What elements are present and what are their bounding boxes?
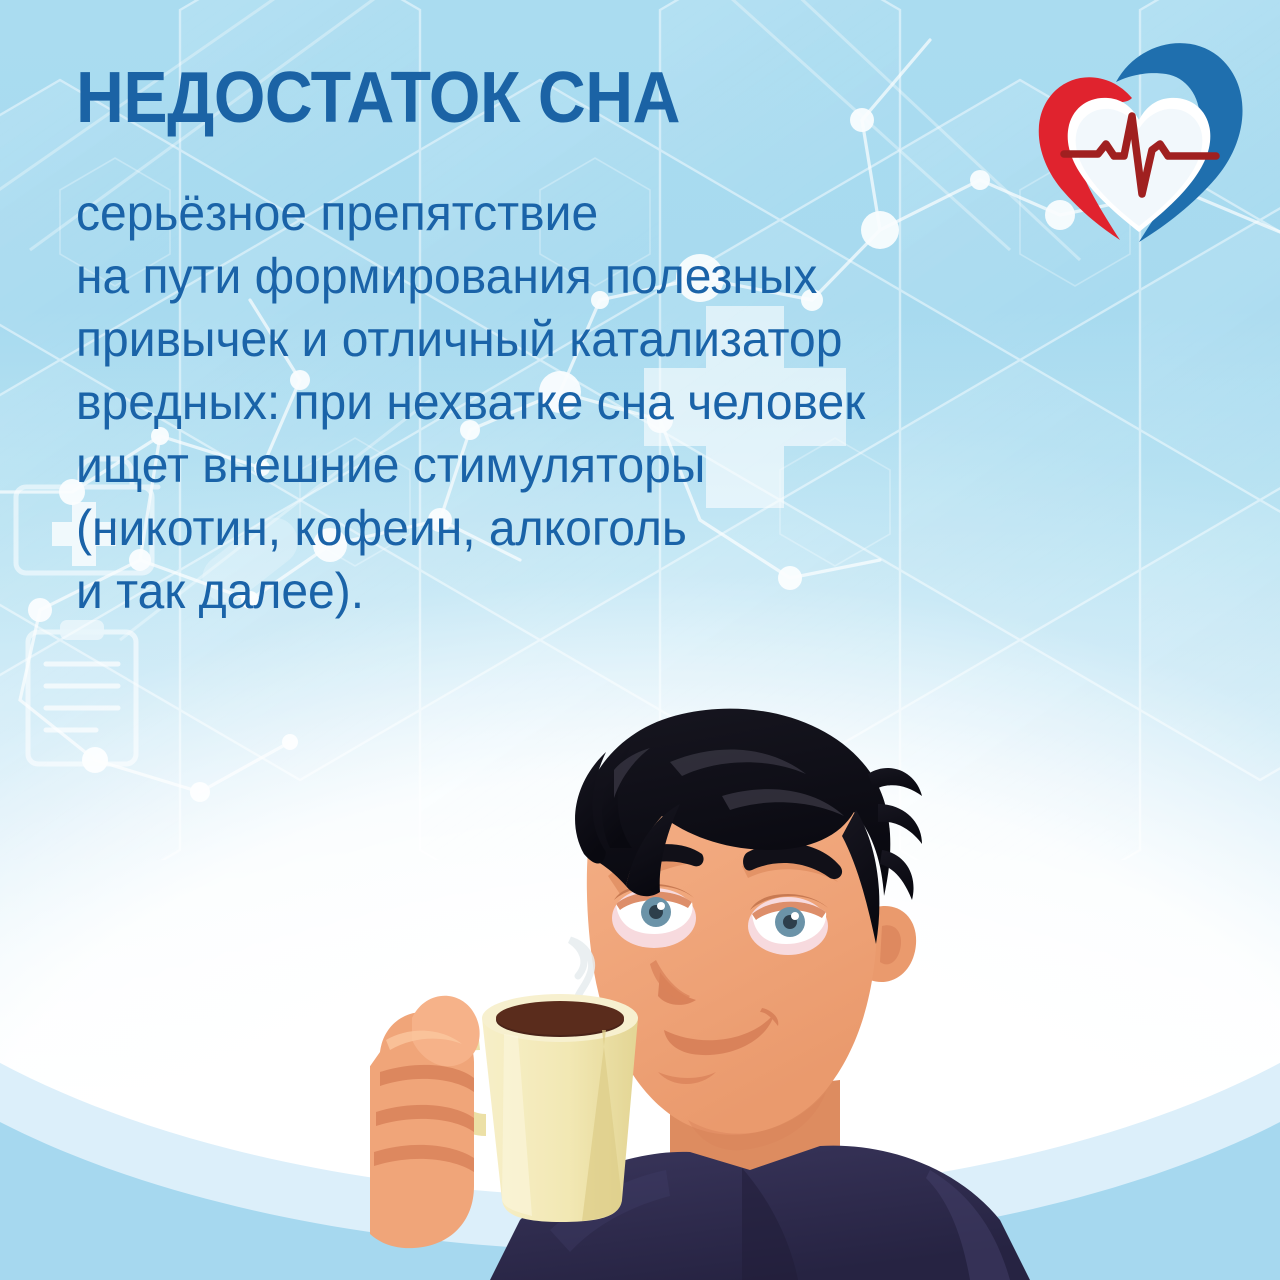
body-line: (никотин, кофеин, алкоголь [76,497,998,560]
body-line: ищет внешние стимуляторы [76,434,998,497]
tired-man-illustration [370,700,1070,1280]
body-line: вредных: при нехватке сна человек [76,371,998,434]
body-line: привычек и отличный катализатор [76,308,998,371]
body-line: серьёзное препятствие [76,182,998,245]
body-line: и так далее). [76,560,998,623]
heart-pulse-logo [1020,34,1258,246]
poster-canvas: НЕДОСТАТОК СНА серьёзное препятствие на … [0,0,1280,1280]
page-title: НЕДОСТАТОК СНА [76,62,775,134]
body-text: серьёзное препятствие на пути формирован… [76,182,998,623]
body-line: на пути формирования полезных [76,245,998,308]
